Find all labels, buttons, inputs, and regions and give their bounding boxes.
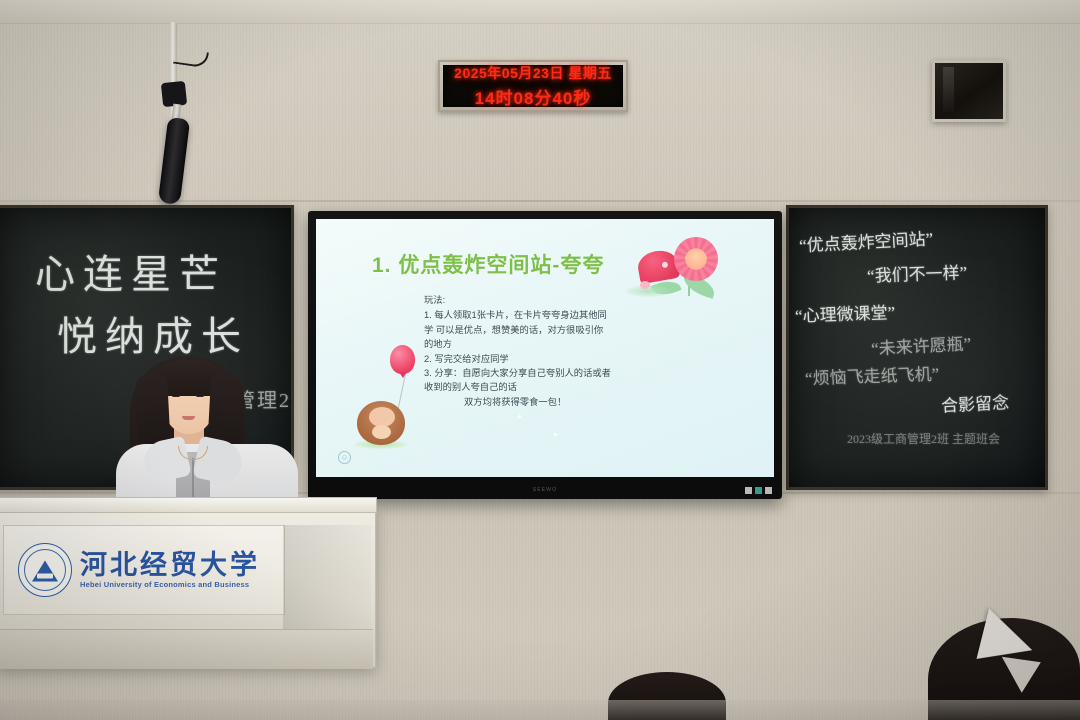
sunflower-icon <box>674 237 718 281</box>
chalk-class-footer: 2023级工商管理2班 主题班会 <box>847 430 1000 447</box>
display-indicator-1 <box>745 487 752 494</box>
classroom-scene: 2025年05月23日 星期五 14时08分40秒 心连星芒 悦纳成长 20 管… <box>0 0 1080 720</box>
flower-face <box>685 250 707 266</box>
led-clock-screen: 2025年05月23日 星期五 14时08分40秒 <box>443 65 623 107</box>
led-clock-time: 14时08分40秒 <box>475 84 592 109</box>
podium-logo-panel: 河北经贸大学 Hebei University of Economics and… <box>3 525 285 615</box>
chalk-activity-5: “烦恼飞走纸飞机” <box>805 360 940 390</box>
seal-book <box>37 574 53 579</box>
slide-item-6: 收到的别人夸自己的话 <box>424 380 692 394</box>
chalk-activity-2: “我们不一样” <box>867 258 968 286</box>
sparkle-dot-2 <box>554 433 557 436</box>
slide-item-4: 2. 写完交给对应同学 <box>424 352 692 366</box>
podium-top-surface <box>0 497 377 513</box>
display-indicator-2 <box>765 487 772 494</box>
interactive-display[interactable]: 1. 优点轰炸空间站-夸夸 玩法: 1. 每人领取1张卡片，在卡片夸夸身边其他同… <box>308 211 782 499</box>
chalk-slogan-line1: 心连星芒 <box>35 242 227 300</box>
university-name-cn: 河北经贸大学 <box>80 551 260 579</box>
slide-closing: 双方均将获得零食一包！ <box>424 395 692 409</box>
balloon-icon <box>390 345 415 374</box>
podium-base <box>0 629 373 669</box>
slide-item-3: 的地方 <box>424 337 692 351</box>
display-power-led <box>755 487 762 494</box>
university-name-block: 河北经贸大学 Hebei University of Economics and… <box>80 551 260 589</box>
display-indicator-group <box>745 487 772 494</box>
balloon-string <box>397 375 405 410</box>
presenter-mouth <box>182 416 195 420</box>
hedgehog-belly <box>372 425 391 439</box>
slide-item-5: 3. 分享：自愿向大家分享自己夸别人的话或者 <box>424 366 692 380</box>
chalk-activity-6: 合影留念 <box>940 388 1009 417</box>
led-clock-display: 2025年05月23日 星期五 14时08分40秒 <box>438 60 628 112</box>
lectern-podium: 河北经贸大学 Hebei University of Economics and… <box>0 508 376 668</box>
slide-item-1: 1. 每人领取1张卡片，在卡片夸夸身边其他同 <box>424 308 692 322</box>
slide-item-2: 学 可以是优点，想赞美的话，对方很吸引你 <box>424 323 692 337</box>
chalk-activity-3: “心理微课堂” <box>795 298 896 326</box>
desk-edge <box>0 700 1080 720</box>
wall-speaker-box <box>932 60 1006 122</box>
slide-body: 玩法: 1. 每人领取1张卡片，在卡片夸夸身边其他同 学 可以是优点，想赞美的话… <box>424 293 692 409</box>
ceiling-strip <box>0 0 1080 24</box>
hedgehog-icon <box>357 401 405 445</box>
blackboard-right: “优点轰炸空间站” “我们不一样” “心理微课堂” “未来许愿瓶” “烦恼飞走纸… <box>786 205 1048 490</box>
tiny-creature-icon <box>640 281 650 289</box>
slide-title: 1. 优点轰炸空间站-夸夸 <box>372 249 604 279</box>
display-brand-label: SEEWO <box>533 487 558 493</box>
presentation-slide[interactable]: 1. 优点轰炸空间站-夸夸 玩法: 1. 每人领取1张卡片，在卡片夸夸身边其他同… <box>316 219 774 477</box>
chalk-activity-4: “未来许愿瓶” <box>870 329 971 359</box>
led-clock-date: 2025年05月23日 星期五 <box>454 63 612 83</box>
podium-side-shading <box>283 525 371 629</box>
slide-watermark-icon: ☺ <box>338 451 351 464</box>
university-name-en: Hebei University of Economics and Busine… <box>80 580 260 589</box>
sparkle-dot-1 <box>518 415 521 418</box>
university-seal-icon <box>18 543 72 597</box>
